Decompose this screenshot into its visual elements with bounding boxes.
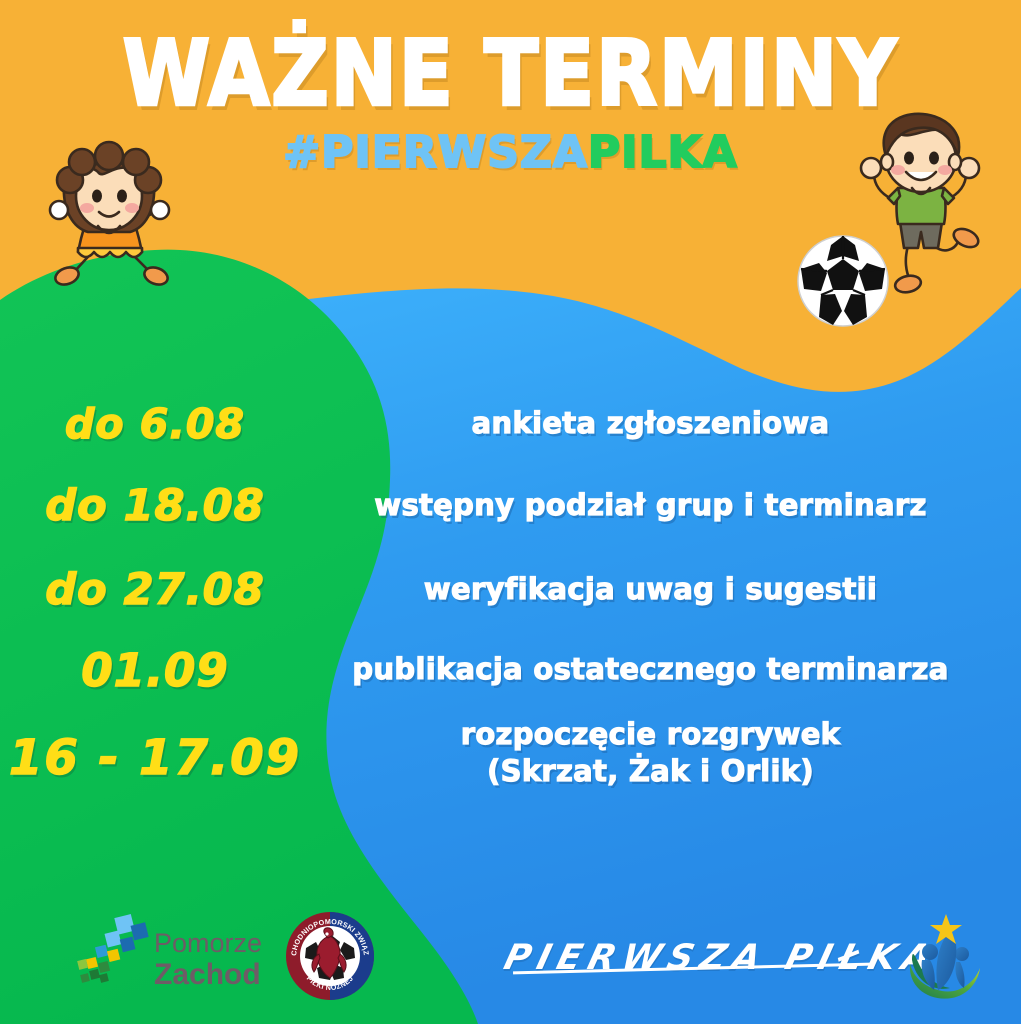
table-row: 01.09 publikacja ostatecznego terminarza <box>0 634 1021 706</box>
schedule-description: rozpoczęcie rozgrywek (Skrzat, Żak i Orl… <box>310 716 1021 790</box>
headline-block: WAŻNE TERMINY #PIERWSZAPILKA <box>0 28 1021 175</box>
hashtag-primary: #PIERWSZA <box>283 127 588 178</box>
schedule-description: wstępny podział grup i terminarz <box>310 487 1021 524</box>
poster-canvas: WAŻNE TERMINY #PIERWSZAPILKA <box>0 0 1021 1024</box>
schedule-description: weryfikacja uwag i sugestii <box>310 571 1021 608</box>
soccer-ball-illustration <box>795 233 891 329</box>
schedule-description-secondary: (Skrzat, Żak i Orlik) <box>310 753 991 790</box>
schedule-description: ankieta zgłoszeniowa <box>310 405 1021 442</box>
schedule-date: do 18.08 <box>0 481 310 531</box>
hashtag-secondary: PILKA <box>588 127 738 178</box>
schedule-list: do 6.08 ankieta zgłoszeniowa do 18.08 ws… <box>0 388 1021 820</box>
schedule-date: 16 - 17.09 <box>0 716 310 786</box>
table-row: do 27.08 weryfikacja uwag i sugestii <box>0 554 1021 626</box>
hashtag-line: #PIERWSZAPILKA <box>0 131 1021 175</box>
schedule-date: 01.09 <box>0 644 310 697</box>
table-row: do 18.08 wstępny podział grup i terminar… <box>0 470 1021 542</box>
star-leaf-people-logo <box>900 912 988 1004</box>
schedule-description-main: rozpoczęcie rozgrywek <box>461 717 841 751</box>
pomorze-zachodnie-logo: Pomorze Zachodnie <box>72 912 262 1000</box>
schedule-date: do 6.08 <box>0 400 310 448</box>
zzpn-crest-logo: ZACHODNIOPOMORSKI ZWIĄZEK PIŁKI NOŻNEJ <box>284 908 376 1004</box>
pierwsza-pilka-wordmark: PIERWSZA PIŁKA <box>505 938 875 994</box>
table-row: 16 - 17.09 rozpoczęcie rozgrywek (Skrzat… <box>0 716 1021 820</box>
schedule-date: do 27.08 <box>0 565 310 615</box>
pomorze-line1: Pomorze <box>154 928 262 958</box>
table-row: do 6.08 ankieta zgłoszeniowa <box>0 388 1021 460</box>
schedule-description: publikacja ostatecznego terminarza <box>310 651 1021 688</box>
page-title: WAŻNE TERMINY <box>0 28 1021 120</box>
pomorze-line2: Zachodnie <box>154 958 262 991</box>
